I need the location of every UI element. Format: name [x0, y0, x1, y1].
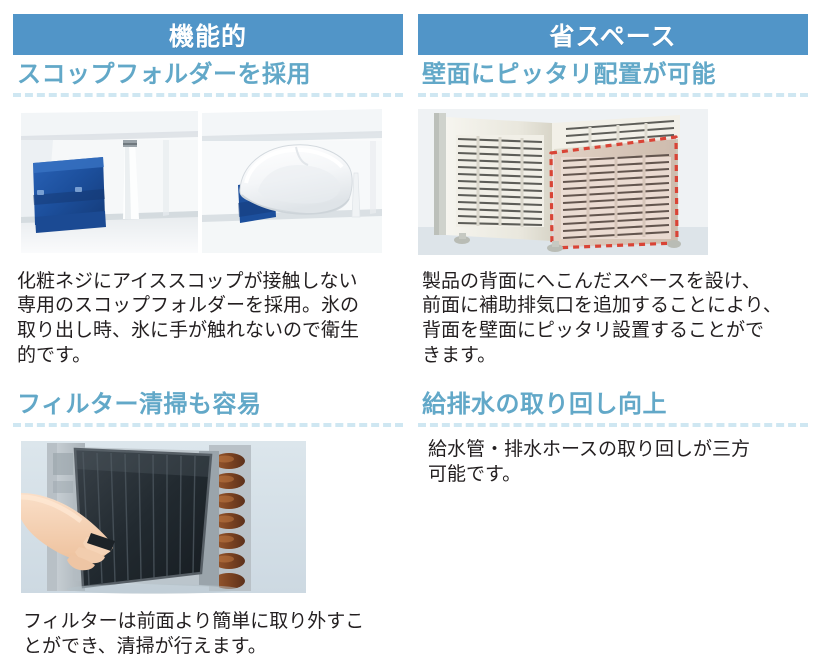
- heading-filter-cleaning: フィルター清掃も容易: [13, 385, 403, 427]
- photo-scoop-holder-blue: [13, 107, 198, 257]
- heading-wall-placement: 壁面にピッタリ配置が可能: [418, 55, 808, 97]
- banner-space-saving: 省スペース: [418, 14, 808, 55]
- heading-water-routing: 給排水の取り回し向上: [418, 385, 808, 427]
- scoop-holder-photos: [13, 107, 403, 257]
- feature-page: 機能的 スコップフォルダーを採用: [0, 0, 821, 667]
- photo-ice-scoop-white: [202, 107, 387, 257]
- banner-functional: 機能的: [13, 14, 403, 55]
- heading-scoop-holder: スコップフォルダーを採用: [13, 55, 403, 97]
- body-wall-placement: 製品の背面にへこんだスペースを設け、 前面に補助排気口を追加することにより、 背…: [422, 269, 808, 368]
- red-dashed-highlight: [551, 137, 677, 248]
- body-water-routing: 給水管・排水ホースの取り回しが三方 可能です。: [428, 437, 808, 486]
- body-scoop-holder: 化粧ネジにアイススコップが接触しない 専用のスコップフォルダーを採用。氷の 取り…: [17, 269, 403, 368]
- column-functional: 機能的 スコップフォルダーを採用: [13, 14, 403, 667]
- wall-placement-photo: [418, 107, 808, 257]
- photo-filter-removal: [13, 437, 313, 597]
- body-filter-cleaning: フィルターは前面より簡単に取り外すこ とができ、清掃が行えます。: [23, 609, 403, 658]
- filter-removal-photo: [13, 437, 403, 597]
- photo-wall-placement: [418, 107, 708, 257]
- column-space-saving: 省スペース 壁面にピッタリ配置が可能: [418, 14, 808, 667]
